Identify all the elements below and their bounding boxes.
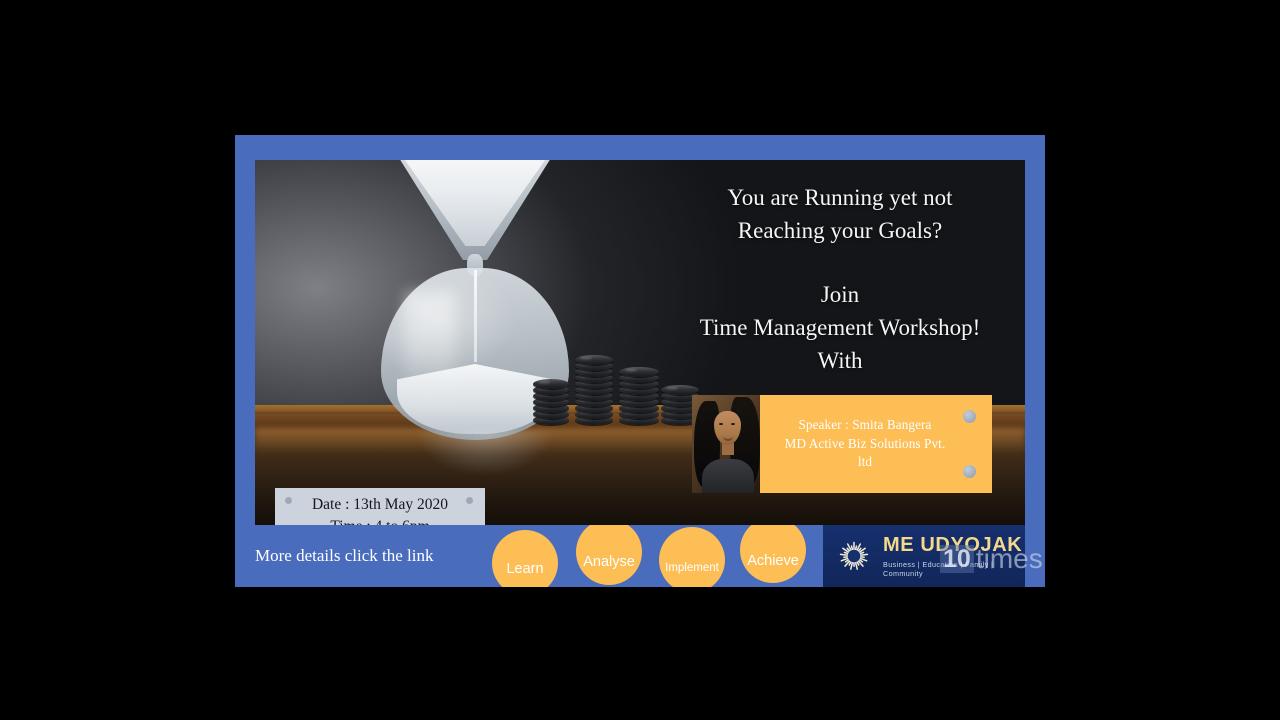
footer-cta-text: More details click the link: [255, 546, 433, 566]
coin-highlight: [625, 369, 638, 372]
pin-dot-icon: [963, 410, 976, 423]
step-circle-implement[interactable]: Implement: [659, 527, 725, 587]
headline-join: Join: [655, 279, 1025, 312]
coin: [533, 379, 569, 389]
speaker-eye-right: [731, 423, 735, 425]
step-label-learn: Learn: [506, 561, 543, 577]
pin-dot-icon: [963, 465, 976, 478]
headline-question-line-1: You are Running yet not: [655, 182, 1025, 215]
poster-footer: More details click the link Learn Analys…: [235, 525, 1045, 587]
coin: [619, 367, 659, 377]
headline-question-line-2: Reaching your Goals?: [655, 215, 1025, 248]
speaker-info-text: Speaker : Smita Bangera MD Active Biz So…: [777, 416, 976, 472]
coin: [575, 355, 613, 365]
headline-with: With: [655, 345, 1025, 378]
poster-photo: You are Running yet not Reaching your Go…: [255, 160, 1025, 525]
brand-text: ME UDYOJAK Business | Education | Family…: [883, 535, 1025, 578]
screenshot-canvas: You are Running yet not Reaching your Go…: [0, 0, 1280, 720]
hourglass-top-sand: [395, 160, 555, 246]
coin-stack: [533, 377, 569, 425]
step-circle-analyse[interactable]: Analyse: [576, 525, 642, 585]
coin-stack: [575, 353, 613, 425]
coin-highlight: [580, 357, 592, 360]
speaker-card: Speaker : Smita Bangera MD Active Biz So…: [692, 395, 992, 493]
coin: [661, 385, 699, 395]
speaker-blazer: [702, 459, 754, 493]
brand-logo: ME UDYOJAK Business | Education | Family…: [823, 525, 1025, 587]
step-label-analyse: Analyse: [583, 554, 635, 570]
headline-event-title: Time Management Workshop!: [655, 312, 1025, 345]
brand-tagline: Business | Education | Family | Communit…: [883, 560, 1025, 578]
headline-spacer: [655, 247, 1025, 279]
schedule-box: Date : 13th May 2020 Time : 4 to 6pm: [275, 488, 485, 525]
poster-frame: You are Running yet not Reaching your Go…: [235, 135, 1045, 587]
coin-stack: [619, 365, 659, 425]
coin-highlight: [666, 387, 678, 390]
speaker-name: Speaker : Smita Bangera: [785, 416, 946, 435]
brand-name: ME UDYOJAK: [883, 535, 1025, 555]
speaker-eye-left: [719, 423, 723, 425]
coin-highlight: [538, 381, 550, 384]
schedule-time: Time : 4 to 6pm: [330, 516, 429, 526]
sunburst-logo-icon: [833, 535, 875, 577]
schedule-date: Date : 13th May 2020: [312, 494, 448, 515]
speaker-photo: [692, 395, 760, 493]
speaker-title-line-2: ltd: [785, 453, 946, 472]
step-circle-learn[interactable]: Learn: [492, 530, 558, 587]
pin-dot-icon: [285, 497, 292, 504]
speaker-info-panel: Speaker : Smita Bangera MD Active Biz So…: [760, 395, 992, 493]
hourglass-sand-stream: [474, 270, 477, 362]
step-label-achieve: Achieve: [747, 553, 799, 569]
step-circle-achieve[interactable]: Achieve: [740, 525, 806, 583]
step-label-implement: Implement: [665, 562, 719, 574]
speaker-smile: [723, 435, 733, 441]
poster-headline: You are Running yet not Reaching your Go…: [655, 182, 1025, 377]
hourglass-table-reflection: [415, 430, 555, 476]
speaker-title-line-1: MD Active Biz Solutions Pvt.: [785, 435, 946, 454]
pin-dot-icon: [466, 497, 473, 504]
